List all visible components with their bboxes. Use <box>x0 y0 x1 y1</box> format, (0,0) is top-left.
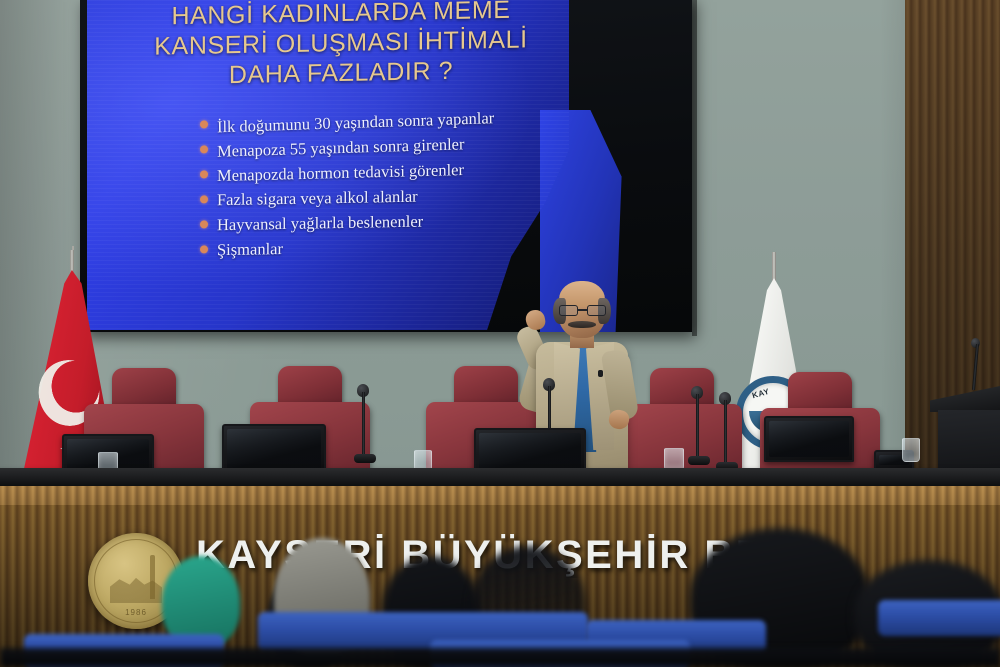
slide-bullet-item: Fazla sigara veya alkol alanlar <box>200 184 600 210</box>
podium-top <box>930 386 1000 412</box>
desk-laptop <box>764 416 854 462</box>
bullet-dot-icon <box>200 195 208 203</box>
lapel-microphone-icon <box>598 370 603 377</box>
bullet-dot-icon <box>200 245 208 253</box>
dais-desktop <box>0 468 1000 486</box>
microphone-base <box>688 456 710 465</box>
conference-hall-scene: HANGİ KADINLARDA MEME KANSERİ OLUŞMASI İ… <box>0 0 1000 667</box>
slide-bullet-item: Şişmanlar <box>200 234 600 260</box>
bullet-dot-icon <box>200 220 208 228</box>
slide-bullet-list: İlk doğumunu 30 yaşından sonra yapanlar … <box>200 109 600 266</box>
auditorium-seat <box>878 600 1000 636</box>
microphone-stem <box>724 400 727 466</box>
municipal-logo-text: KAY <box>751 387 770 401</box>
emblem-minaret-icon <box>150 555 155 599</box>
water-glass <box>902 438 920 462</box>
slide-title: HANGİ KADINLARDA MEME KANSERİ OLUŞMASI İ… <box>96 0 586 93</box>
slide-bullet-text: Menapozda hormon tedavisi görenler <box>217 160 464 185</box>
slide-bullet-item: Hayvansal yağlarla beslenenler <box>200 209 600 235</box>
slide-bullet-item: Menapoza 55 yaşından sonra girenler <box>200 134 600 160</box>
bullet-dot-icon <box>200 170 208 178</box>
slide-bullet-text: Hayvansal yağlarla beslenenler <box>217 212 423 235</box>
slide-bullet-text: Menapoza 55 yaşından sonra girenler <box>217 134 465 160</box>
bullet-dot-icon <box>200 145 208 153</box>
bullet-dot-icon <box>200 120 208 128</box>
microphone-stem <box>696 394 699 460</box>
microphone-stem <box>362 392 365 458</box>
laptop-screen <box>764 416 854 462</box>
microphone-base <box>354 454 376 463</box>
presenter-mustache <box>568 321 596 328</box>
eyeglasses-icon <box>558 305 607 316</box>
slide-bullet-item: Menapozda hormon tedavisi görenler <box>200 159 600 185</box>
foreground-shadow <box>0 648 1000 667</box>
slide-bullet-text: Fazla sigara veya alkol alanlar <box>217 187 418 210</box>
slide-bullet-text: Şişmanlar <box>217 239 283 259</box>
